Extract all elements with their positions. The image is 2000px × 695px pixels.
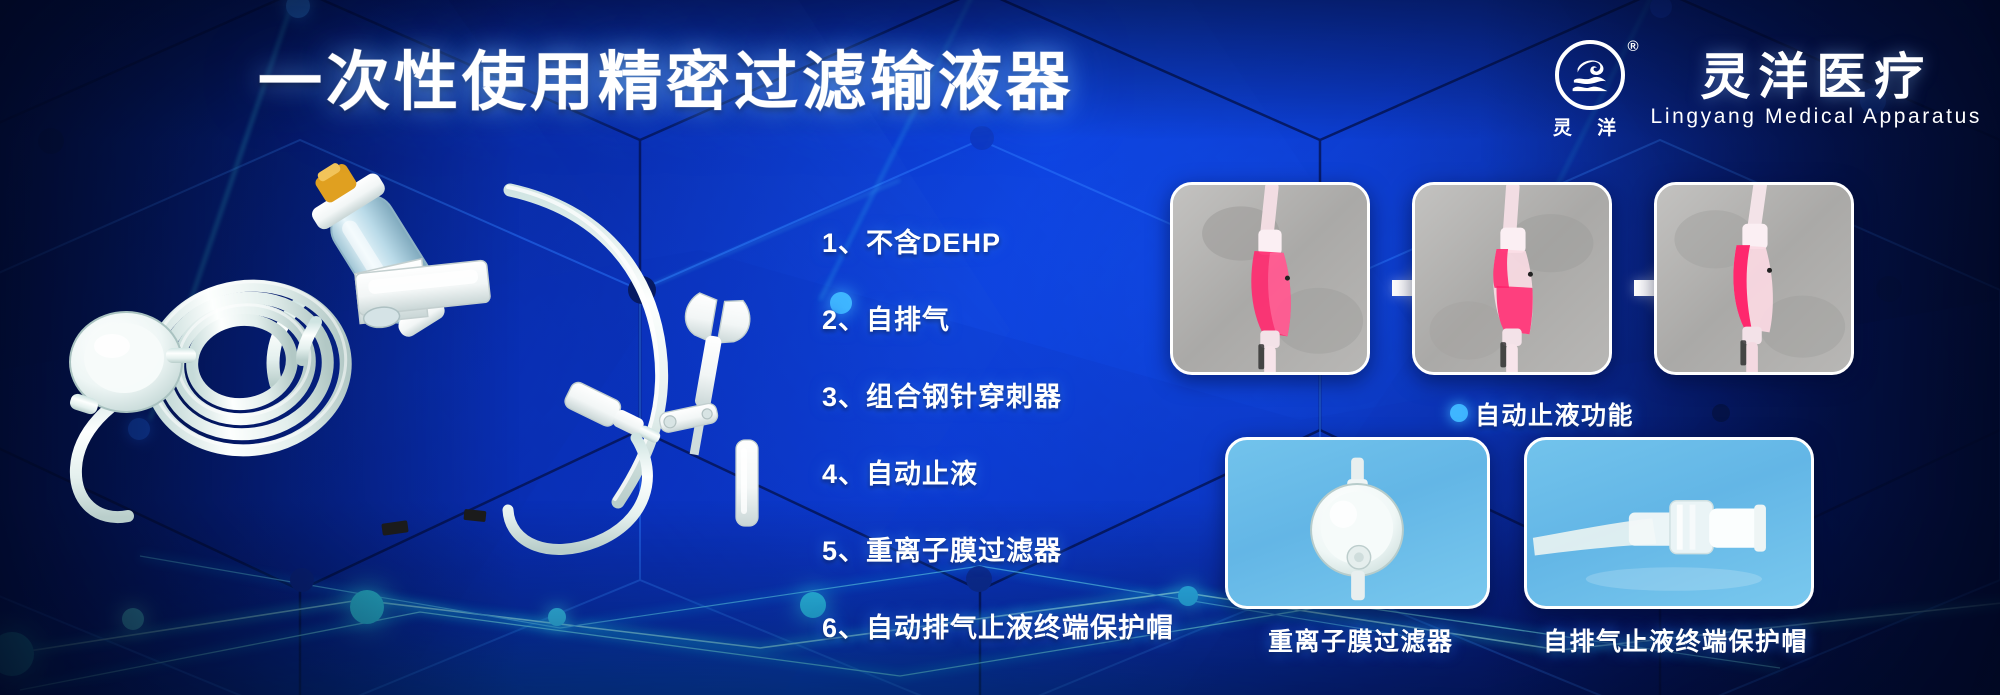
wave-circle-logo-icon — [1555, 40, 1625, 110]
sequence-photo-3 — [1654, 182, 1854, 375]
tube-clamp-part — [658, 402, 719, 434]
sequence-caption: 自动止液功能 — [1475, 396, 1634, 432]
page-title: 一次性使用精密过滤输液器 — [258, 50, 1074, 114]
feature-item-4: 4、自动止液 — [822, 461, 1174, 488]
sequence-photo-1 — [1170, 182, 1370, 375]
feature-item-5: 5、重离子膜过滤器 — [822, 538, 1174, 565]
logo-sub-text: 灵 洋 — [1553, 113, 1626, 140]
feature-item-3: 3、组合钢针穿刺器 — [822, 384, 1174, 411]
sequence-photo-2 — [1412, 182, 1612, 375]
feature-list: 1、不含DEHP 2、自排气 3、组合钢针穿刺器 4、自动止液 5、重离子膜过滤… — [822, 230, 1174, 642]
product-banner: 一次性使用精密过滤输液器 ® 灵 洋 灵洋医疗 Lingyang Medical… — [0, 0, 2000, 695]
product-photo-cap — [1524, 437, 1814, 609]
brand-name-en: Lingyang Medical Apparatus — [1651, 105, 1982, 129]
tube-label-tab — [381, 520, 408, 536]
brand-logo-block: ® 灵 洋 灵洋医疗 Lingyang Medical Apparatus — [1547, 40, 1982, 140]
feature-item-6: 6、自动排气止液终端保护帽 — [822, 615, 1174, 642]
tube-label-tab-2 — [463, 509, 486, 522]
product-photo-filter-caption: 重离子膜过滤器 — [1268, 622, 1454, 658]
protector-cap-part — [736, 440, 758, 526]
luer-connector-part — [562, 380, 666, 450]
brand-name-cn: 灵洋医疗 — [1700, 51, 1932, 104]
product-photo-cap-caption: 自排气止液终端保护帽 — [1543, 622, 1808, 658]
needle-wing-part — [662, 291, 753, 460]
registered-mark: ® — [1627, 38, 1638, 55]
feature-item-2: 2、自排气 — [822, 307, 1174, 334]
logo-mark: ® 灵 洋 — [1547, 40, 1633, 140]
brand-name-block: 灵洋医疗 Lingyang Medical Apparatus — [1651, 51, 1982, 130]
feature-item-1: 1、不含DEHP — [822, 230, 1174, 257]
main-product-image — [40, 150, 770, 570]
product-photo-filter — [1225, 437, 1490, 609]
